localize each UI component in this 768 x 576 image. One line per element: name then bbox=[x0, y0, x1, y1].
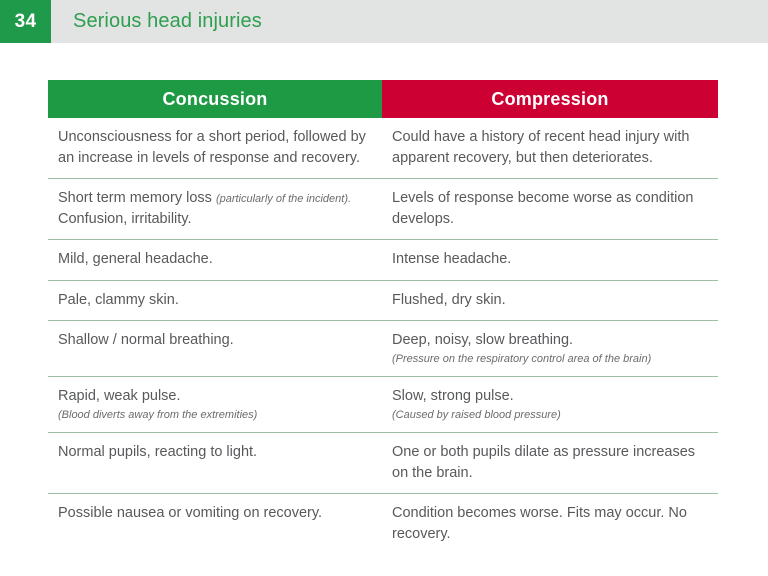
table-row: Unconsciousness for a short period, foll… bbox=[48, 118, 718, 179]
cell-compression: Condition becomes worse. Fits may occur.… bbox=[382, 494, 718, 555]
cell-text: Normal pupils, reacting to light. bbox=[58, 444, 257, 460]
slide-header: 34 Serious head injuries bbox=[0, 0, 768, 43]
column-header-compression: Compression bbox=[382, 80, 718, 118]
cell-text: Condition becomes worse. Fits may occur.… bbox=[392, 505, 687, 542]
cell-text-primary: Short term memory loss bbox=[58, 190, 212, 206]
cell-text: Possible nausea or vomiting on recovery. bbox=[58, 505, 322, 521]
cell-text: Flushed, dry skin. bbox=[392, 292, 506, 308]
table-row: Mild, general headache. Intense headache… bbox=[48, 240, 718, 281]
cell-text: Could have a history of recent head inju… bbox=[392, 129, 689, 166]
cell-text: Intense headache. bbox=[392, 251, 511, 267]
cell-note: (Caused by raised blood pressure) bbox=[392, 408, 704, 422]
cell-concussion: Rapid, weak pulse. (Blood diverts away f… bbox=[48, 377, 382, 433]
cell-compression: Could have a history of recent head inju… bbox=[382, 118, 718, 179]
cell-compression: Slow, strong pulse. (Caused by raised bl… bbox=[382, 377, 718, 433]
cell-text: Deep, noisy, slow breathing. bbox=[392, 332, 573, 348]
cell-text: Shallow / normal breathing. bbox=[58, 332, 234, 348]
table-header: Concussion Compression bbox=[48, 80, 718, 118]
cell-text: Levels of response become worse as condi… bbox=[392, 190, 693, 227]
cell-note-inline: (particularly of the incident). bbox=[216, 193, 351, 205]
cell-text: Mild, general headache. bbox=[58, 251, 213, 267]
page-title: Serious head injuries bbox=[51, 0, 768, 43]
slide-number-badge: 34 bbox=[0, 0, 51, 43]
cell-text: Slow, strong pulse. bbox=[392, 388, 514, 404]
table-row: Possible nausea or vomiting on recovery.… bbox=[48, 494, 718, 555]
head-injury-comparison-table: Concussion Compression Unconsciousness f… bbox=[48, 80, 718, 555]
table-row: Normal pupils, reacting to light. One or… bbox=[48, 433, 718, 494]
cell-text: Pale, clammy skin. bbox=[58, 292, 179, 308]
comparison-table-container: Concussion Compression Unconsciousness f… bbox=[48, 80, 718, 555]
cell-text: Rapid, weak pulse. bbox=[58, 388, 181, 404]
cell-concussion: Shallow / normal breathing. bbox=[48, 321, 382, 377]
cell-text: One or both pupils dilate as pressure in… bbox=[392, 444, 695, 481]
cell-concussion: Short term memory loss (particularly of … bbox=[48, 179, 382, 240]
table-row: Rapid, weak pulse. (Blood diverts away f… bbox=[48, 377, 718, 433]
cell-note: (Blood diverts away from the extremities… bbox=[58, 408, 368, 422]
table-row: Pale, clammy skin. Flushed, dry skin. bbox=[48, 280, 718, 321]
cell-compression: Flushed, dry skin. bbox=[382, 280, 718, 321]
table-row: Shallow / normal breathing. Deep, noisy,… bbox=[48, 321, 718, 377]
cell-concussion: Possible nausea or vomiting on recovery. bbox=[48, 494, 382, 555]
cell-compression: Intense headache. bbox=[382, 240, 718, 281]
table-header-row: Concussion Compression bbox=[48, 80, 718, 118]
cell-concussion: Unconsciousness for a short period, foll… bbox=[48, 118, 382, 179]
cell-concussion: Normal pupils, reacting to light. bbox=[48, 433, 382, 494]
column-header-concussion: Concussion bbox=[48, 80, 382, 118]
cell-concussion: Pale, clammy skin. bbox=[48, 280, 382, 321]
cell-compression: One or both pupils dilate as pressure in… bbox=[382, 433, 718, 494]
cell-text-secondary: Confusion, irritability. bbox=[58, 211, 192, 227]
table-body: Unconsciousness for a short period, foll… bbox=[48, 118, 718, 555]
cell-compression: Levels of response become worse as condi… bbox=[382, 179, 718, 240]
cell-text: Unconsciousness for a short period, foll… bbox=[58, 129, 366, 166]
table-row: Short term memory loss (particularly of … bbox=[48, 179, 718, 240]
cell-concussion: Mild, general headache. bbox=[48, 240, 382, 281]
cell-note: (Pressure on the respiratory control are… bbox=[392, 352, 704, 366]
cell-compression: Deep, noisy, slow breathing. (Pressure o… bbox=[382, 321, 718, 377]
